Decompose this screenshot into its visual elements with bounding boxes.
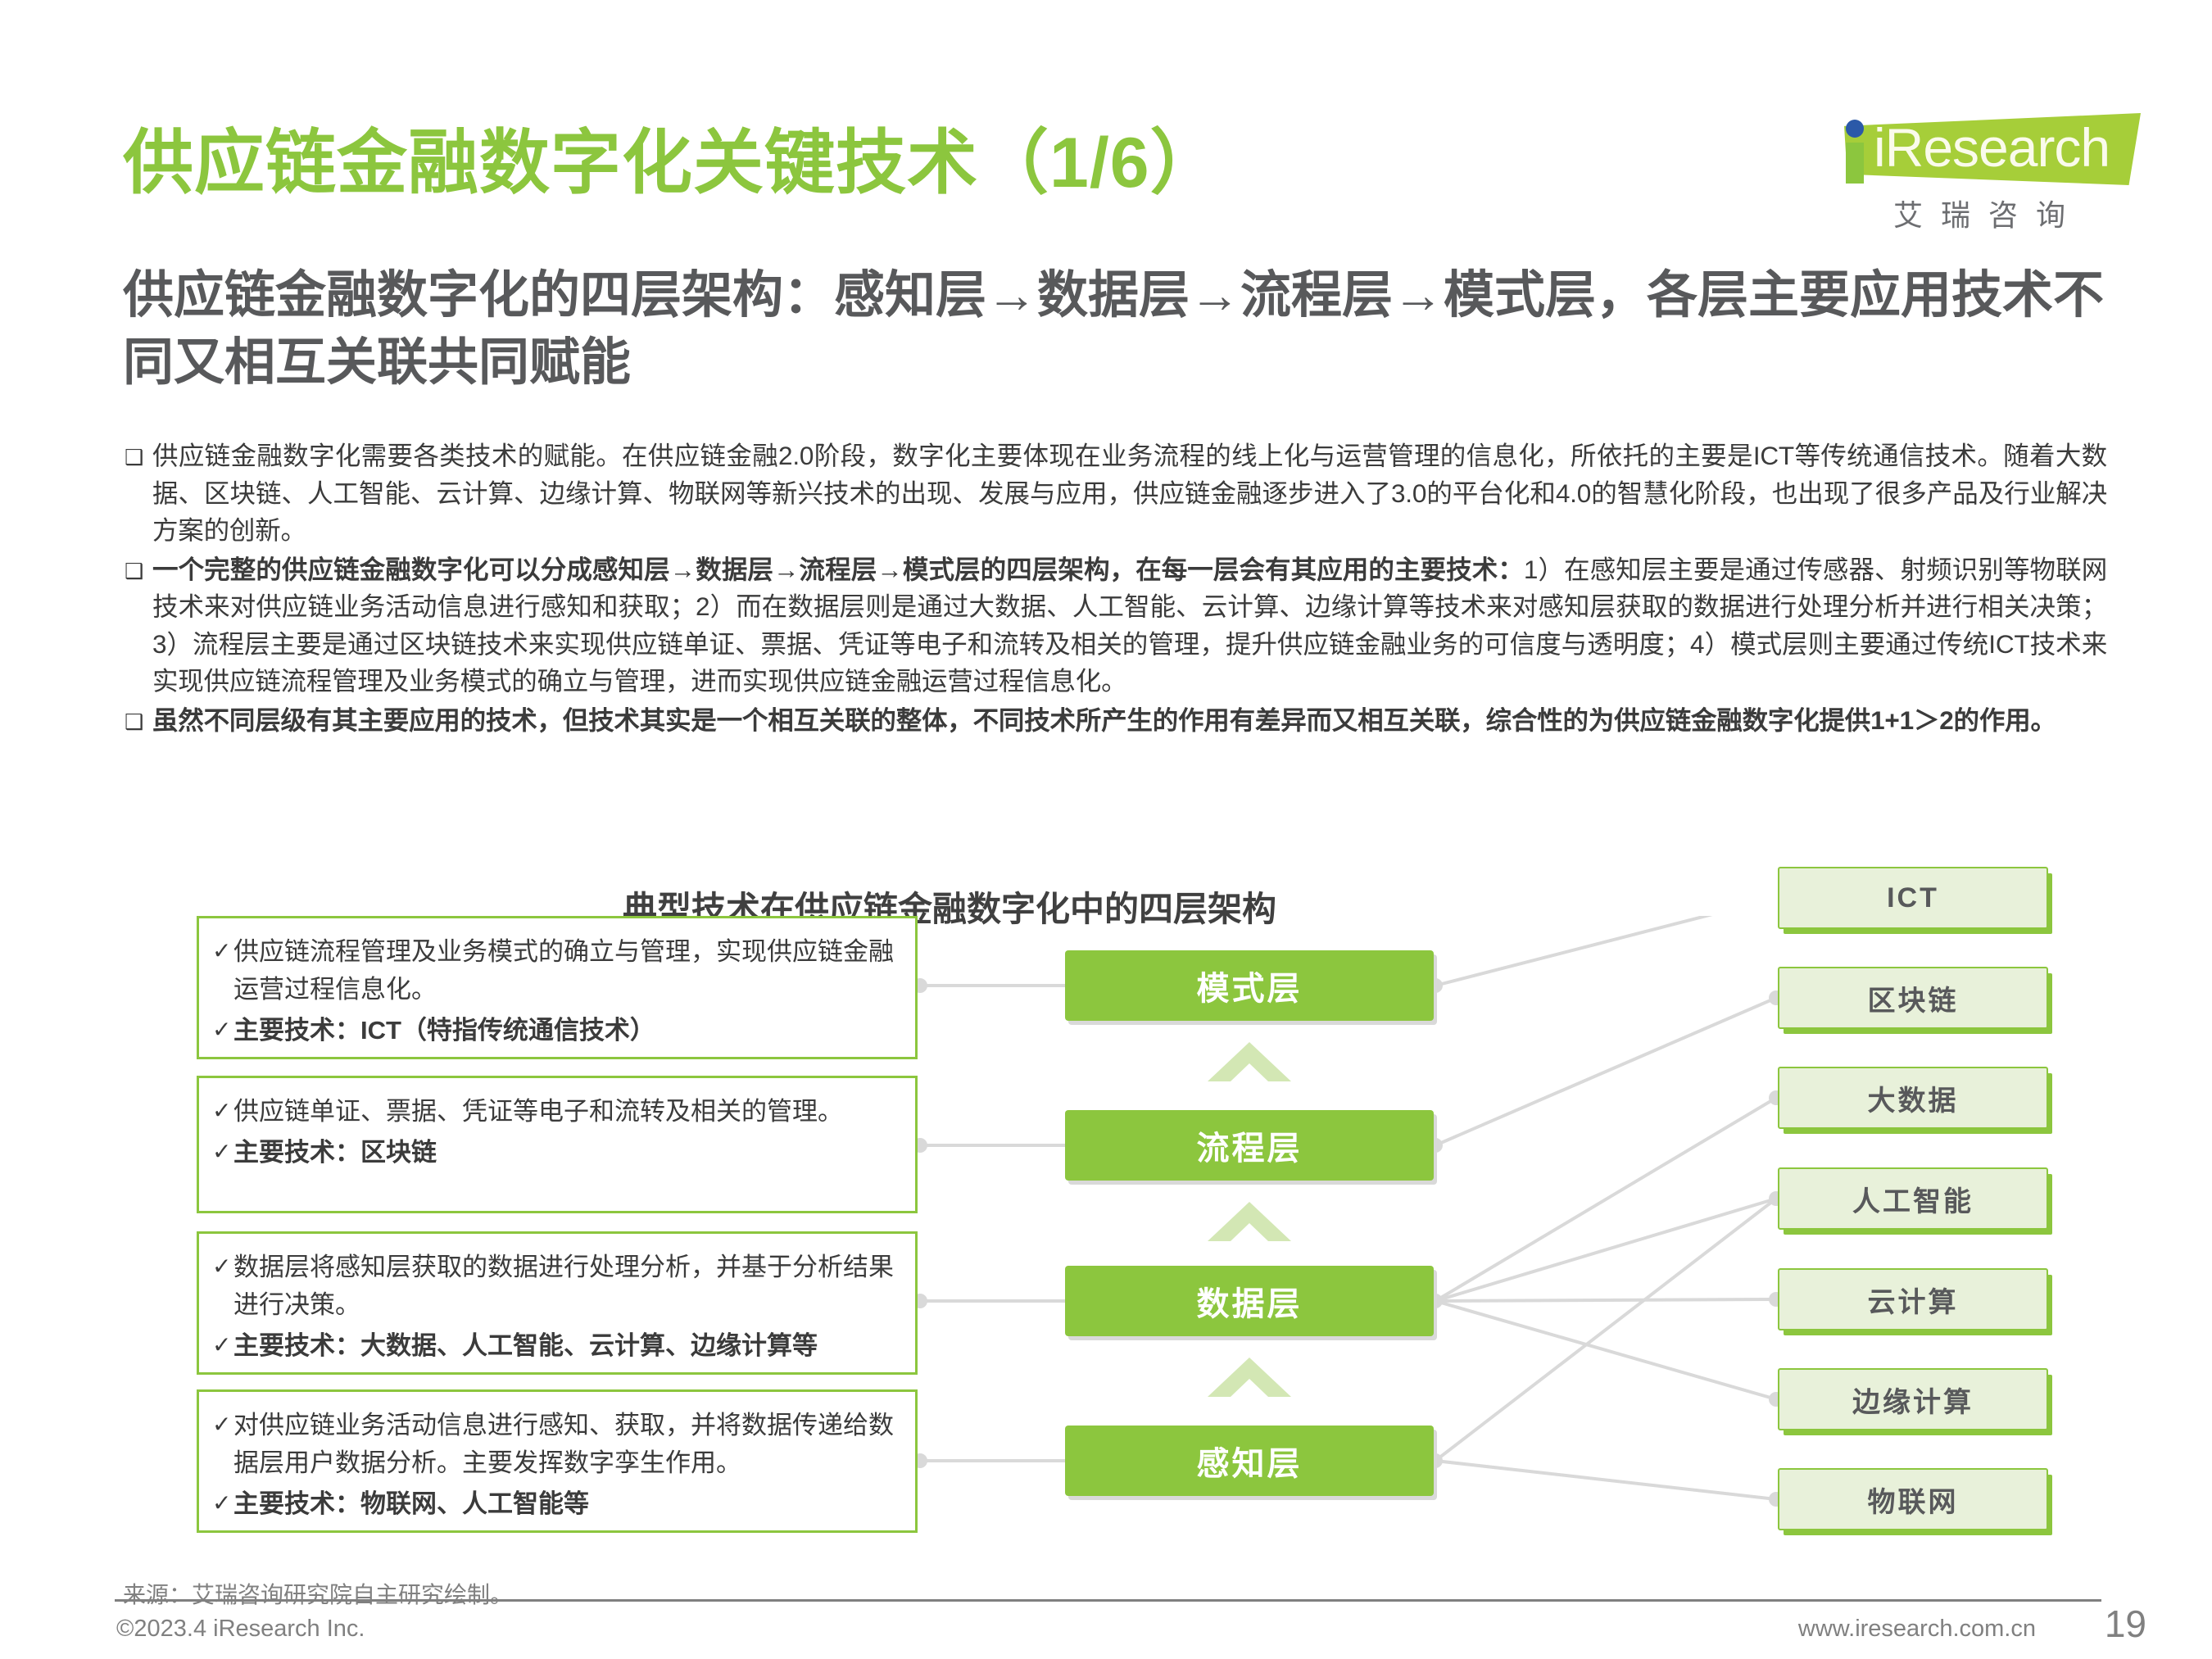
list-item: ❑ 虽然不同层级有其主要应用的技术，但技术其实是一个相互关联的整体，不同技术所产… <box>125 702 2107 740</box>
iresearch-logo: iResearch 艾瑞咨询 <box>1815 105 2142 232</box>
layer-bar-process[interactable]: 流程层 <box>1065 1110 1434 1181</box>
layer-description: 对供应链业务活动信息进行感知、获取，并将数据传递给数据层用户数据分析。主要发挥数… <box>233 1407 899 1482</box>
layer-description-card: ✓ 供应链流程管理及业务模式的确立与管理，实现供应链金融运营过程信息化。 ✓ 主… <box>197 916 918 1059</box>
logo-mark: iResearch <box>1815 105 2142 187</box>
card-tech-row: ✓ 主要技术：ICT（特指传统通信技术） <box>212 1012 899 1049</box>
logo-i-dot-icon <box>1846 120 1864 138</box>
layer-description: 供应链流程管理及业务模式的确立与管理，实现供应链金融运营过程信息化。 <box>233 933 899 1009</box>
bullet-marker-icon: ❑ <box>125 437 152 475</box>
four-layer-architecture-diagram: ✓ 供应链流程管理及业务模式的确立与管理，实现供应链金融运营过程信息化。 ✓ 主… <box>115 916 2105 1580</box>
logo-brand-text: iResearch <box>1874 118 2110 177</box>
footer-divider <box>115 1599 2101 1602</box>
logo-brand-cn: 艾瑞咨询 <box>1836 192 2141 234</box>
layer-key-tech: 主要技术：物联网、人工智能等 <box>233 1485 899 1523</box>
card-tech-row: ✓ 主要技术：大数据、人工智能、云计算、边缘计算等 <box>212 1327 899 1365</box>
up-chevron-icon <box>1204 1039 1294 1085</box>
tech-chip-bigdata[interactable]: 大数据 <box>1778 1067 2048 1129</box>
list-item: ❑ 供应链金融数字化需要各类技术的赋能。在供应链金融2.0阶段，数字化主要体现在… <box>125 437 2107 550</box>
layer-description-card: ✓ 对供应链业务活动信息进行感知、获取，并将数据传递给数据层用户数据分析。主要发… <box>197 1389 918 1533</box>
page-title: 供应链金融数字化关键技术（1/6） <box>123 105 1222 207</box>
layer-description-card: ✓ 供应链单证、票据、凭证等电子和流转及相关的管理。 ✓ 主要技术：区块链 <box>197 1076 918 1213</box>
card-description-row: ✓ 对供应链业务活动信息进行感知、获取，并将数据传递给数据层用户数据分析。主要发… <box>212 1407 899 1482</box>
layer-description-card: ✓ 数据层将感知层获取的数据进行处理分析，并基于分析结果进行决策。 ✓ 主要技术… <box>197 1231 918 1375</box>
tech-chip-cloud[interactable]: 云计算 <box>1778 1268 2048 1330</box>
tech-chip-ict[interactable]: ICT <box>1778 867 2048 929</box>
check-icon: ✓ <box>212 1012 233 1048</box>
check-icon: ✓ <box>212 1327 233 1363</box>
check-icon: ✓ <box>212 1093 233 1129</box>
tech-chip-iot[interactable]: 物联网 <box>1778 1468 2048 1530</box>
bullet-marker-icon: ❑ <box>125 702 152 740</box>
bullet-text: 供应链金融数字化需要各类技术的赋能。在供应链金融2.0阶段，数字化主要体现在业务… <box>152 437 2107 550</box>
layer-bar-data[interactable]: 数据层 <box>1065 1266 1434 1336</box>
up-chevron-icon <box>1204 1199 1294 1244</box>
tech-chip-edge[interactable]: 边缘计算 <box>1778 1368 2048 1430</box>
layer-bar-sensing[interactable]: 感知层 <box>1065 1426 1434 1496</box>
page-number: 19 <box>2105 1602 2146 1646</box>
card-description-row: ✓ 数据层将感知层获取的数据进行处理分析，并基于分析结果进行决策。 <box>212 1249 899 1324</box>
layer-bar-pattern[interactable]: 模式层 <box>1065 950 1434 1021</box>
card-tech-row: ✓ 主要技术：区块链 <box>212 1134 899 1172</box>
check-icon: ✓ <box>212 933 233 969</box>
body-bullet-list: ❑ 供应链金融数字化需要各类技术的赋能。在供应链金融2.0阶段，数字化主要体现在… <box>125 437 2107 741</box>
page-subtitle: 供应链金融数字化的四层架构：感知层→数据层→流程层→模式层，各层主要应用技术不同… <box>123 262 2105 397</box>
card-tech-row: ✓ 主要技术：物联网、人工智能等 <box>212 1485 899 1523</box>
list-item: ❑ 一个完整的供应链金融数字化可以分成感知层→数据层→流程层→模式层的四层架构，… <box>125 551 2107 700</box>
layer-description: 数据层将感知层获取的数据进行处理分析，并基于分析结果进行决策。 <box>233 1249 899 1324</box>
source-note: 来源：艾瑞咨询研究院自主研究绘制。 <box>123 1577 513 1610</box>
check-icon: ✓ <box>212 1485 233 1521</box>
layer-description: 供应链单证、票据、凭证等电子和流转及相关的管理。 <box>233 1093 899 1131</box>
check-icon: ✓ <box>212 1249 233 1285</box>
check-icon: ✓ <box>212 1407 233 1443</box>
slide-page: 供应链金融数字化关键技术（1/6） iResearch 艾瑞咨询 供应链金融数字… <box>0 0 2212 1659</box>
layer-key-tech: 主要技术：区块链 <box>233 1134 899 1172</box>
bullet-text: 虽然不同层级有其主要应用的技术，但技术其实是一个相互关联的整体，不同技术所产生的… <box>152 702 2107 740</box>
card-description-row: ✓ 供应链流程管理及业务模式的确立与管理，实现供应链金融运营过程信息化。 <box>212 933 899 1009</box>
tech-chip-ai[interactable]: 人工智能 <box>1778 1167 2048 1230</box>
check-icon: ✓ <box>212 1134 233 1170</box>
bullet-text: 一个完整的供应链金融数字化可以分成感知层→数据层→流程层→模式层的四层架构，在每… <box>152 551 2107 700</box>
tech-chip-blockchain[interactable]: 区块链 <box>1778 967 2048 1029</box>
layer-key-tech: 主要技术：ICT（特指传统通信技术） <box>233 1012 899 1049</box>
website-link[interactable]: www.iresearch.com.cn <box>1798 1616 2036 1643</box>
copyright-text: ©2023.4 iResearch Inc. <box>116 1616 365 1643</box>
layer-key-tech: 主要技术：大数据、人工智能、云计算、边缘计算等 <box>233 1327 899 1365</box>
card-description-row: ✓ 供应链单证、票据、凭证等电子和流转及相关的管理。 <box>212 1093 899 1131</box>
up-chevron-icon <box>1204 1354 1294 1400</box>
bullet-marker-icon: ❑ <box>125 551 152 589</box>
logo-i-stem-icon <box>1846 143 1864 184</box>
